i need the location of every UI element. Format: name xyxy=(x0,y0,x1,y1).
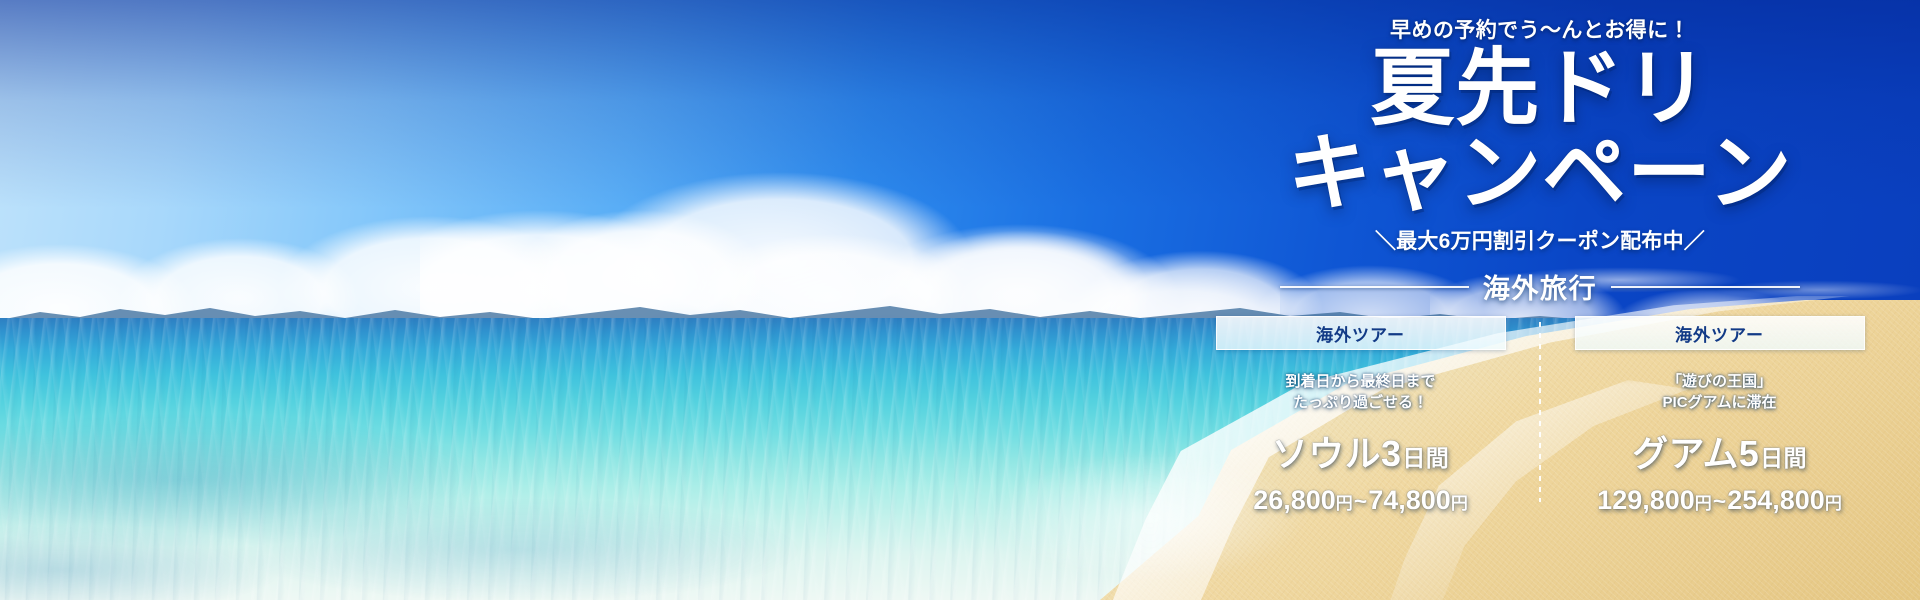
tour-days-guam-number: 5 xyxy=(1739,433,1759,474)
tour-days-seoul-number: 3 xyxy=(1381,433,1401,474)
tour-price-guam: 129,800円~254,800円 xyxy=(1597,485,1842,516)
tour-price-guam-currency-max: 円 xyxy=(1825,494,1842,513)
tour-destination-seoul-name: ソウル xyxy=(1272,433,1381,474)
tagline: 早めの予約でう〜んとお得に！ xyxy=(1390,14,1690,44)
tour-description-guam: 「遊びの王国」 PICグアムに滞在 xyxy=(1663,372,1777,413)
tour-cards: 海外ツアー 到着日から最終日まで たっぷり過ごせる！ ソウル3日間 26,800… xyxy=(1190,316,1890,516)
tour-destination-guam-name: グアム xyxy=(1632,433,1739,474)
tour-tag-guam[interactable]: 海外ツアー xyxy=(1575,316,1865,350)
tour-description-seoul: 到着日から最終日まで たっぷり過ごせる！ xyxy=(1285,372,1435,413)
tour-card-seoul[interactable]: 海外ツアー 到着日から最終日まで たっぷり過ごせる！ ソウル3日間 26,800… xyxy=(1190,316,1531,516)
tour-destination-seoul: ソウル3日間 xyxy=(1272,425,1449,477)
section-rule-right xyxy=(1611,286,1800,288)
tour-price-seoul-currency-min: 円 xyxy=(1336,494,1353,513)
tour-price-guam-separator: ~ xyxy=(1713,488,1726,514)
section-heading: 海外旅行 xyxy=(1280,267,1800,306)
campaign-title-line2: キャンペーン xyxy=(1288,133,1793,214)
tour-description-seoul-line2: たっぷり過ごせる！ xyxy=(1285,393,1435,413)
tour-days-seoul-unit: 日間 xyxy=(1402,445,1449,471)
banner-content: 早めの予約でう〜んとお得に！ 夏先ドリ キャンペーン ＼最大6万円割引クーポン配… xyxy=(1160,0,1920,600)
tour-description-guam-line2: PICグアムに滞在 xyxy=(1663,393,1777,413)
tour-price-guam-max: 254,800 xyxy=(1727,485,1825,515)
section-rule-left xyxy=(1280,286,1469,288)
tour-price-seoul-max: 74,800 xyxy=(1368,485,1451,515)
tour-description-seoul-line1: 到着日から最終日まで xyxy=(1285,372,1435,392)
tour-price-seoul-min: 26,800 xyxy=(1253,485,1336,515)
campaign-title: 夏先ドリ キャンペーン xyxy=(1288,48,1793,213)
campaign-title-line1: 夏先ドリ xyxy=(1370,41,1709,135)
tour-price-seoul-currency-max: 円 xyxy=(1451,494,1468,513)
tour-price-seoul: 26,800円~74,800円 xyxy=(1253,485,1468,516)
section-heading-label: 海外旅行 xyxy=(1483,267,1597,306)
campaign-banner: 早めの予約でう〜んとお得に！ 夏先ドリ キャンペーン ＼最大6万円割引クーポン配… xyxy=(0,0,1920,600)
coupon-notice: ＼最大6万円割引クーポン配布中／ xyxy=(1375,225,1705,255)
tour-description-guam-line1: 「遊びの王国」 xyxy=(1663,372,1777,392)
tour-days-guam-unit: 日間 xyxy=(1760,445,1807,471)
tour-price-guam-currency-min: 円 xyxy=(1695,494,1712,513)
tour-tag-seoul[interactable]: 海外ツアー xyxy=(1216,316,1506,350)
tour-price-seoul-separator: ~ xyxy=(1354,488,1367,514)
tour-card-guam[interactable]: 海外ツアー 「遊びの王国」 PICグアムに滞在 グアム5日間 129,800円~… xyxy=(1549,316,1890,516)
tour-price-guam-min: 129,800 xyxy=(1597,485,1695,515)
tour-destination-guam: グアム5日間 xyxy=(1632,425,1807,477)
card-divider xyxy=(1539,322,1541,502)
